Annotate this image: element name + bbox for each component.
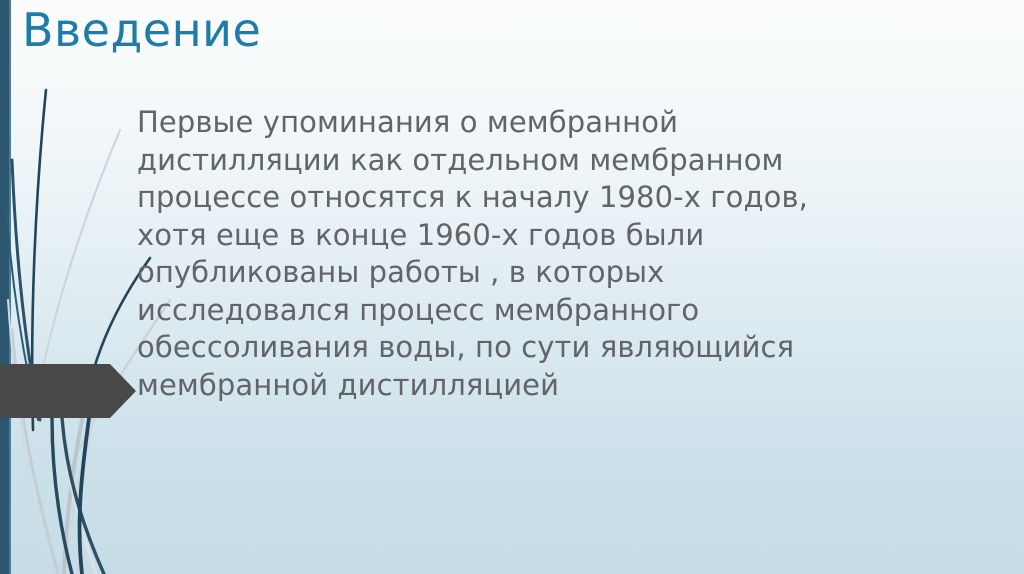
slide-title: Введение [22, 2, 261, 58]
presentation-slide: Введение Первые упоминания о мембранной … [0, 0, 1024, 574]
body-line: процессе относятся к началу 1980-х годов… [137, 179, 927, 217]
left-accent-bar [0, 0, 9, 574]
body-line: мембранной дистилляцией [137, 367, 927, 405]
slide-body-text: Первые упоминания о мембранной дистилляц… [137, 104, 927, 404]
body-line: Первые упоминания о мембранной [137, 104, 927, 142]
arrow-banner-shape [0, 364, 136, 418]
dark-arrow-banner [0, 364, 136, 418]
body-line: исследовался процесс мембранного [137, 292, 927, 330]
body-line: опубликованы работы , в которых [137, 254, 927, 292]
body-line: дистилляции как отдельном мембранном [137, 142, 927, 180]
left-accent-bar-thin [9, 0, 11, 574]
body-line: обессоливания воды, по сути являющийся [137, 329, 927, 367]
body-line: хотя еще в конце 1960-х годов были [137, 217, 927, 255]
